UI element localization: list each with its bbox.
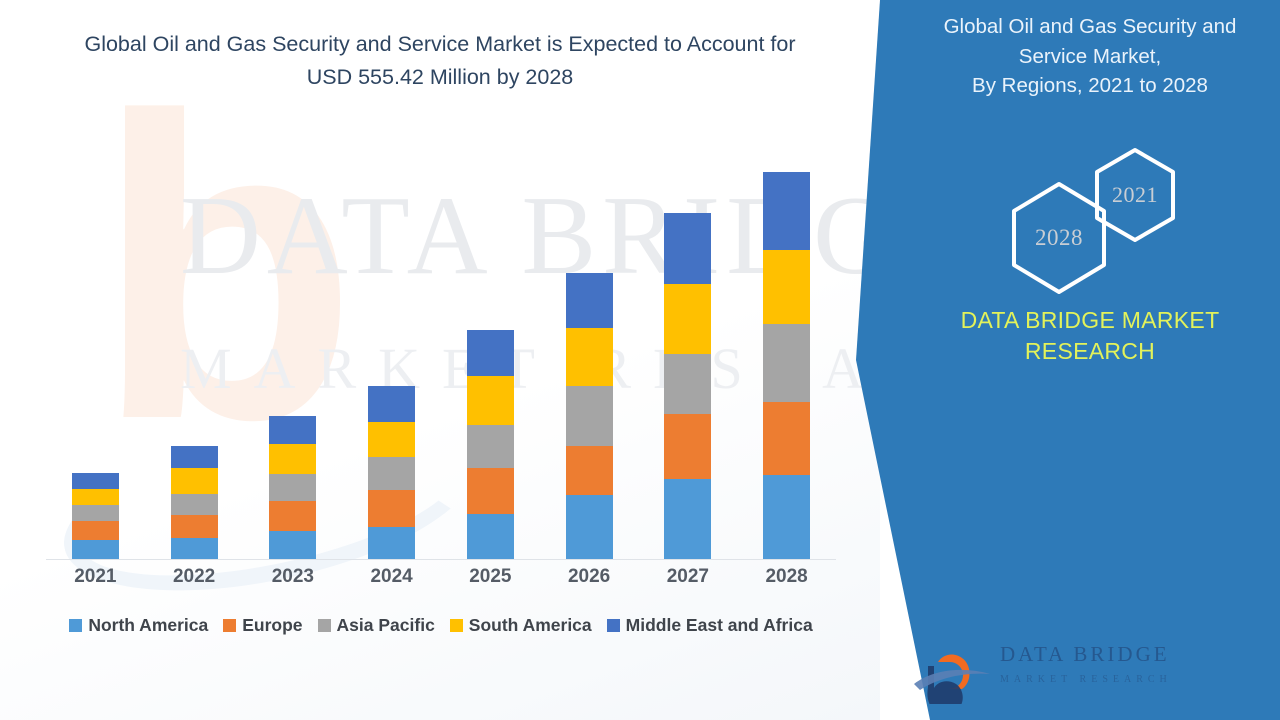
bar-group (546, 160, 632, 559)
stacked-bar[interactable] (467, 330, 514, 559)
bar-segment[interactable] (763, 475, 810, 559)
bar-segment[interactable] (72, 473, 119, 489)
bar-segment[interactable] (566, 446, 613, 496)
stacked-bar[interactable] (269, 416, 316, 559)
company-logo: DATA BRIDGE MARKET RESEARCH (908, 632, 1268, 704)
page-title-line2: USD 555.42 Million by 2028 (307, 65, 574, 89)
bar-group (349, 160, 435, 559)
bar-segment[interactable] (171, 446, 218, 469)
bar-group (250, 160, 336, 559)
bar-segment[interactable] (72, 505, 119, 521)
bar-group (52, 160, 138, 559)
bar-segment[interactable] (368, 490, 415, 527)
brand-panel-title-line1: Global Oil and Gas Security and (944, 15, 1237, 38)
x-axis-labels: 20212022202320242025202620272028 (46, 566, 836, 588)
legend-label: Middle East and Africa (626, 615, 813, 636)
infographic-page: b DATA BRIDGE MARKET RESEARCH Global Oil… (0, 0, 1280, 720)
data-bridge-logo-mark (912, 632, 992, 704)
stacked-bar[interactable] (566, 273, 613, 559)
legend-label: Asia Pacific (337, 615, 435, 636)
bar-segment[interactable] (664, 414, 711, 479)
logo-subtitle: MARKET RESEARCH (1000, 674, 1260, 685)
hexagon-start-year-label: 2021 (1112, 182, 1158, 208)
hexagon-end-year-label: 2028 (1035, 225, 1083, 251)
bar-segment[interactable] (664, 479, 711, 559)
bar-segment[interactable] (368, 457, 415, 489)
brand-name-line1: DATA BRIDGE MARKET (961, 307, 1220, 333)
bar-segment[interactable] (467, 425, 514, 468)
legend-item[interactable]: South America (450, 615, 592, 636)
stacked-bar[interactable] (763, 172, 810, 559)
bar-segment[interactable] (269, 501, 316, 531)
bar-group (645, 160, 731, 559)
stacked-bar-chart (46, 160, 836, 560)
x-axis-tick: 2024 (349, 566, 435, 588)
bar-segment[interactable] (467, 468, 514, 513)
bar-segment[interactable] (763, 402, 810, 474)
x-axis-tick: 2028 (744, 566, 830, 588)
legend-swatch-icon (69, 619, 82, 632)
x-axis-tick: 2025 (447, 566, 533, 588)
legend-label: North America (88, 615, 208, 636)
bar-segment[interactable] (763, 250, 810, 325)
legend-swatch-icon (223, 619, 236, 632)
bar-segment[interactable] (72, 540, 119, 559)
brand-panel-title-line2: Service Market, (1019, 45, 1161, 68)
bar-segment[interactable] (467, 514, 514, 559)
bar-group (447, 160, 533, 559)
bar-segment[interactable] (664, 213, 711, 284)
stacked-bar[interactable] (368, 386, 415, 559)
bar-segment[interactable] (171, 538, 218, 559)
legend-item[interactable]: North America (69, 615, 208, 636)
hexagon-badge-end-year: 2028 (1000, 179, 1118, 297)
x-axis-tick: 2027 (645, 566, 731, 588)
bar-segment[interactable] (467, 376, 514, 425)
bar-segment[interactable] (763, 172, 810, 250)
bar-segment[interactable] (566, 495, 613, 559)
legend-swatch-icon (318, 619, 331, 632)
brand-panel-title-line3: By Regions, 2021 to 2028 (972, 74, 1208, 97)
legend-label: Europe (242, 615, 302, 636)
legend-label: South America (469, 615, 592, 636)
legend-swatch-icon (450, 619, 463, 632)
bar-segment[interactable] (269, 531, 316, 559)
brand-name-line2: RESEARCH (1025, 338, 1155, 364)
bar-segment[interactable] (467, 330, 514, 376)
legend-item[interactable]: Asia Pacific (318, 615, 435, 636)
bar-group (151, 160, 237, 559)
bar-segment[interactable] (664, 354, 711, 415)
bar-segment[interactable] (171, 515, 218, 539)
bar-segment[interactable] (664, 284, 711, 353)
bar-segment[interactable] (269, 444, 316, 473)
brand-name: DATA BRIDGE MARKET RESEARCH (900, 305, 1280, 367)
logo-title: DATA BRIDGE (1000, 642, 1260, 667)
x-axis-tick: 2026 (546, 566, 632, 588)
x-axis-tick: 2021 (52, 566, 138, 588)
chart-legend: North AmericaEuropeAsia PacificSouth Ame… (46, 615, 836, 636)
bar-segment[interactable] (171, 494, 218, 515)
page-title-line1: Global Oil and Gas Security and Service … (84, 32, 795, 56)
bar-segment[interactable] (763, 324, 810, 402)
bar-segment[interactable] (171, 468, 218, 494)
bar-group (744, 160, 830, 559)
bar-segment[interactable] (72, 489, 119, 505)
bar-segment[interactable] (368, 386, 415, 422)
x-axis-tick: 2022 (151, 566, 237, 588)
bar-segment[interactable] (368, 422, 415, 458)
stacked-bar[interactable] (171, 446, 218, 559)
bar-segment[interactable] (368, 527, 415, 559)
legend-item[interactable]: Europe (223, 615, 302, 636)
legend-item[interactable]: Middle East and Africa (607, 615, 813, 636)
stacked-bar[interactable] (72, 473, 119, 559)
chart-plot-area (46, 160, 836, 560)
stacked-bar[interactable] (664, 213, 711, 559)
bar-segment[interactable] (566, 273, 613, 328)
bar-segment[interactable] (72, 521, 119, 539)
brand-panel-title: Global Oil and Gas Security and Service … (900, 12, 1280, 101)
logo-wordmark: DATA BRIDGE MARKET RESEARCH (1000, 642, 1260, 685)
page-title: Global Oil and Gas Security and Service … (30, 28, 850, 93)
brand-panel: Global Oil and Gas Security and Service … (900, 0, 1280, 720)
bar-segment[interactable] (269, 474, 316, 501)
bar-segment[interactable] (566, 386, 613, 445)
hexagon-badges: 2021 2028 (900, 145, 1280, 280)
bar-segment[interactable] (566, 328, 613, 386)
legend-swatch-icon (607, 619, 620, 632)
bar-segment[interactable] (269, 416, 316, 444)
x-axis-tick: 2023 (250, 566, 336, 588)
chart-panel: b DATA BRIDGE MARKET RESEARCH Global Oil… (0, 0, 880, 720)
